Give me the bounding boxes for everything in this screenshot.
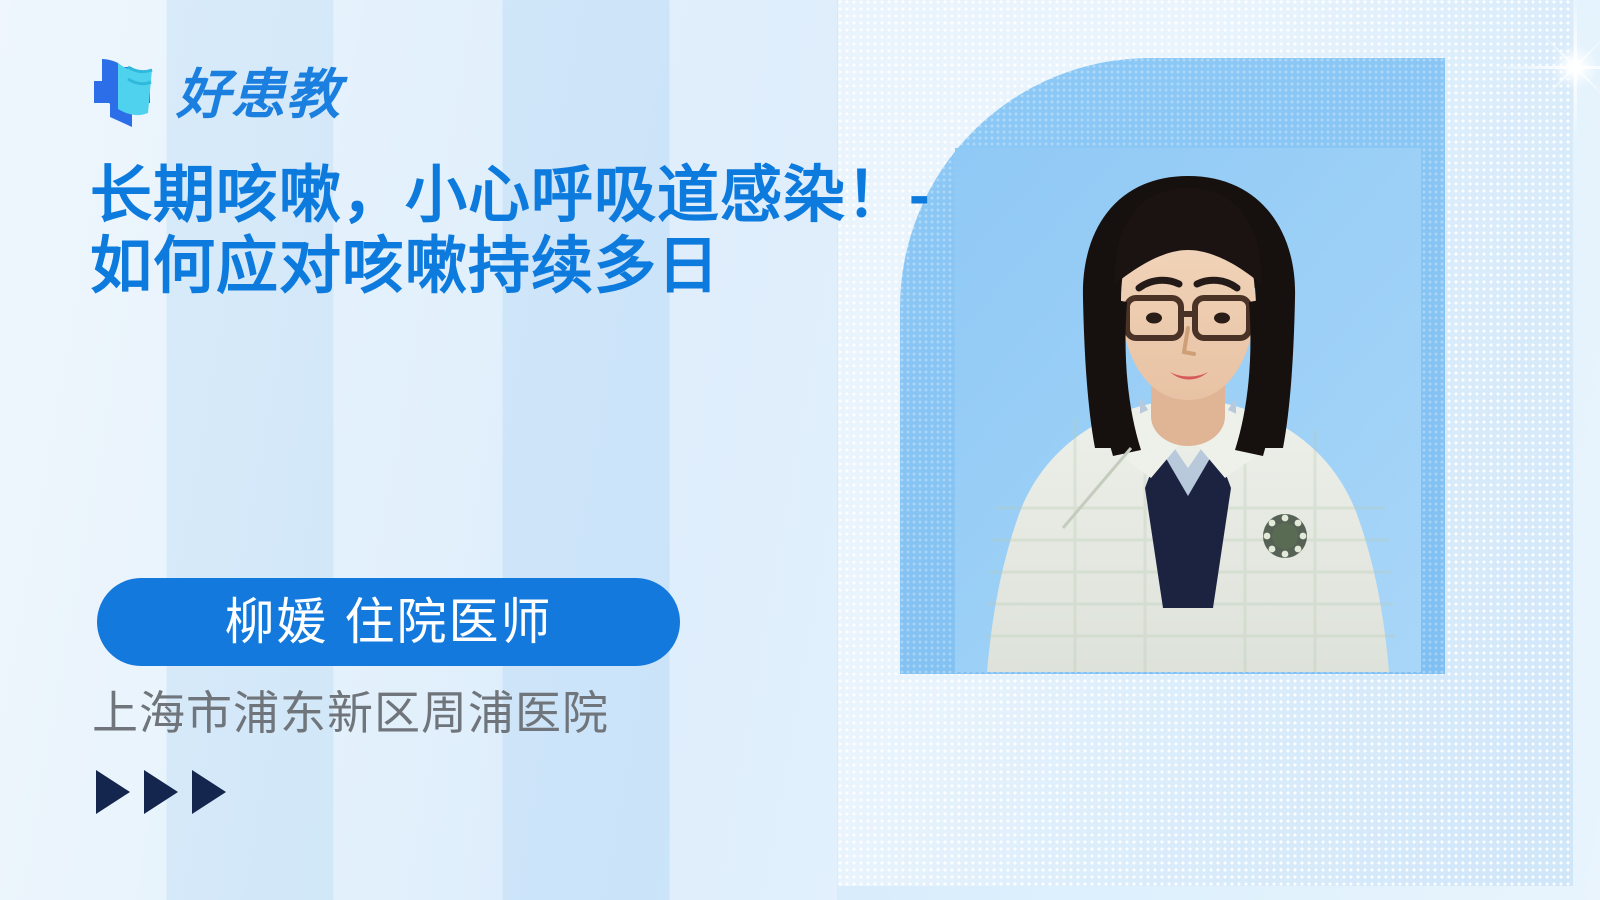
hospital-name: 上海市浦东新区周浦医院: [92, 688, 609, 739]
background-band: [334, 0, 502, 900]
flare-ray-vertical: [1574, 0, 1577, 142]
page-title: 长期咳嗽，小心呼吸道感染！- 如何应对咳嗽持续多日: [90, 160, 950, 303]
play-triangle-icon: [144, 770, 178, 814]
background-band: [503, 0, 669, 900]
play-arrows: [96, 770, 226, 814]
brand-name: 好患教: [176, 68, 341, 122]
doctor-portrait: [955, 148, 1421, 672]
presenter-badge[interactable]: 柳媛 住院医师: [97, 578, 680, 666]
background-band: [0, 0, 166, 900]
brand-logo[interactable]: 好患教: [88, 55, 341, 135]
background-band: [670, 0, 837, 900]
background-band: [167, 0, 333, 900]
presenter-badge-label: 柳媛 住院医师: [225, 597, 553, 647]
play-triangle-icon: [192, 770, 226, 814]
medical-cross-book-icon: [88, 55, 162, 135]
play-triangle-icon: [96, 770, 130, 814]
poster-canvas: 好患教 长期咳嗽，小心呼吸道感染！- 如何应对咳嗽持续多日 柳媛 住院医师 上海…: [0, 0, 1600, 900]
